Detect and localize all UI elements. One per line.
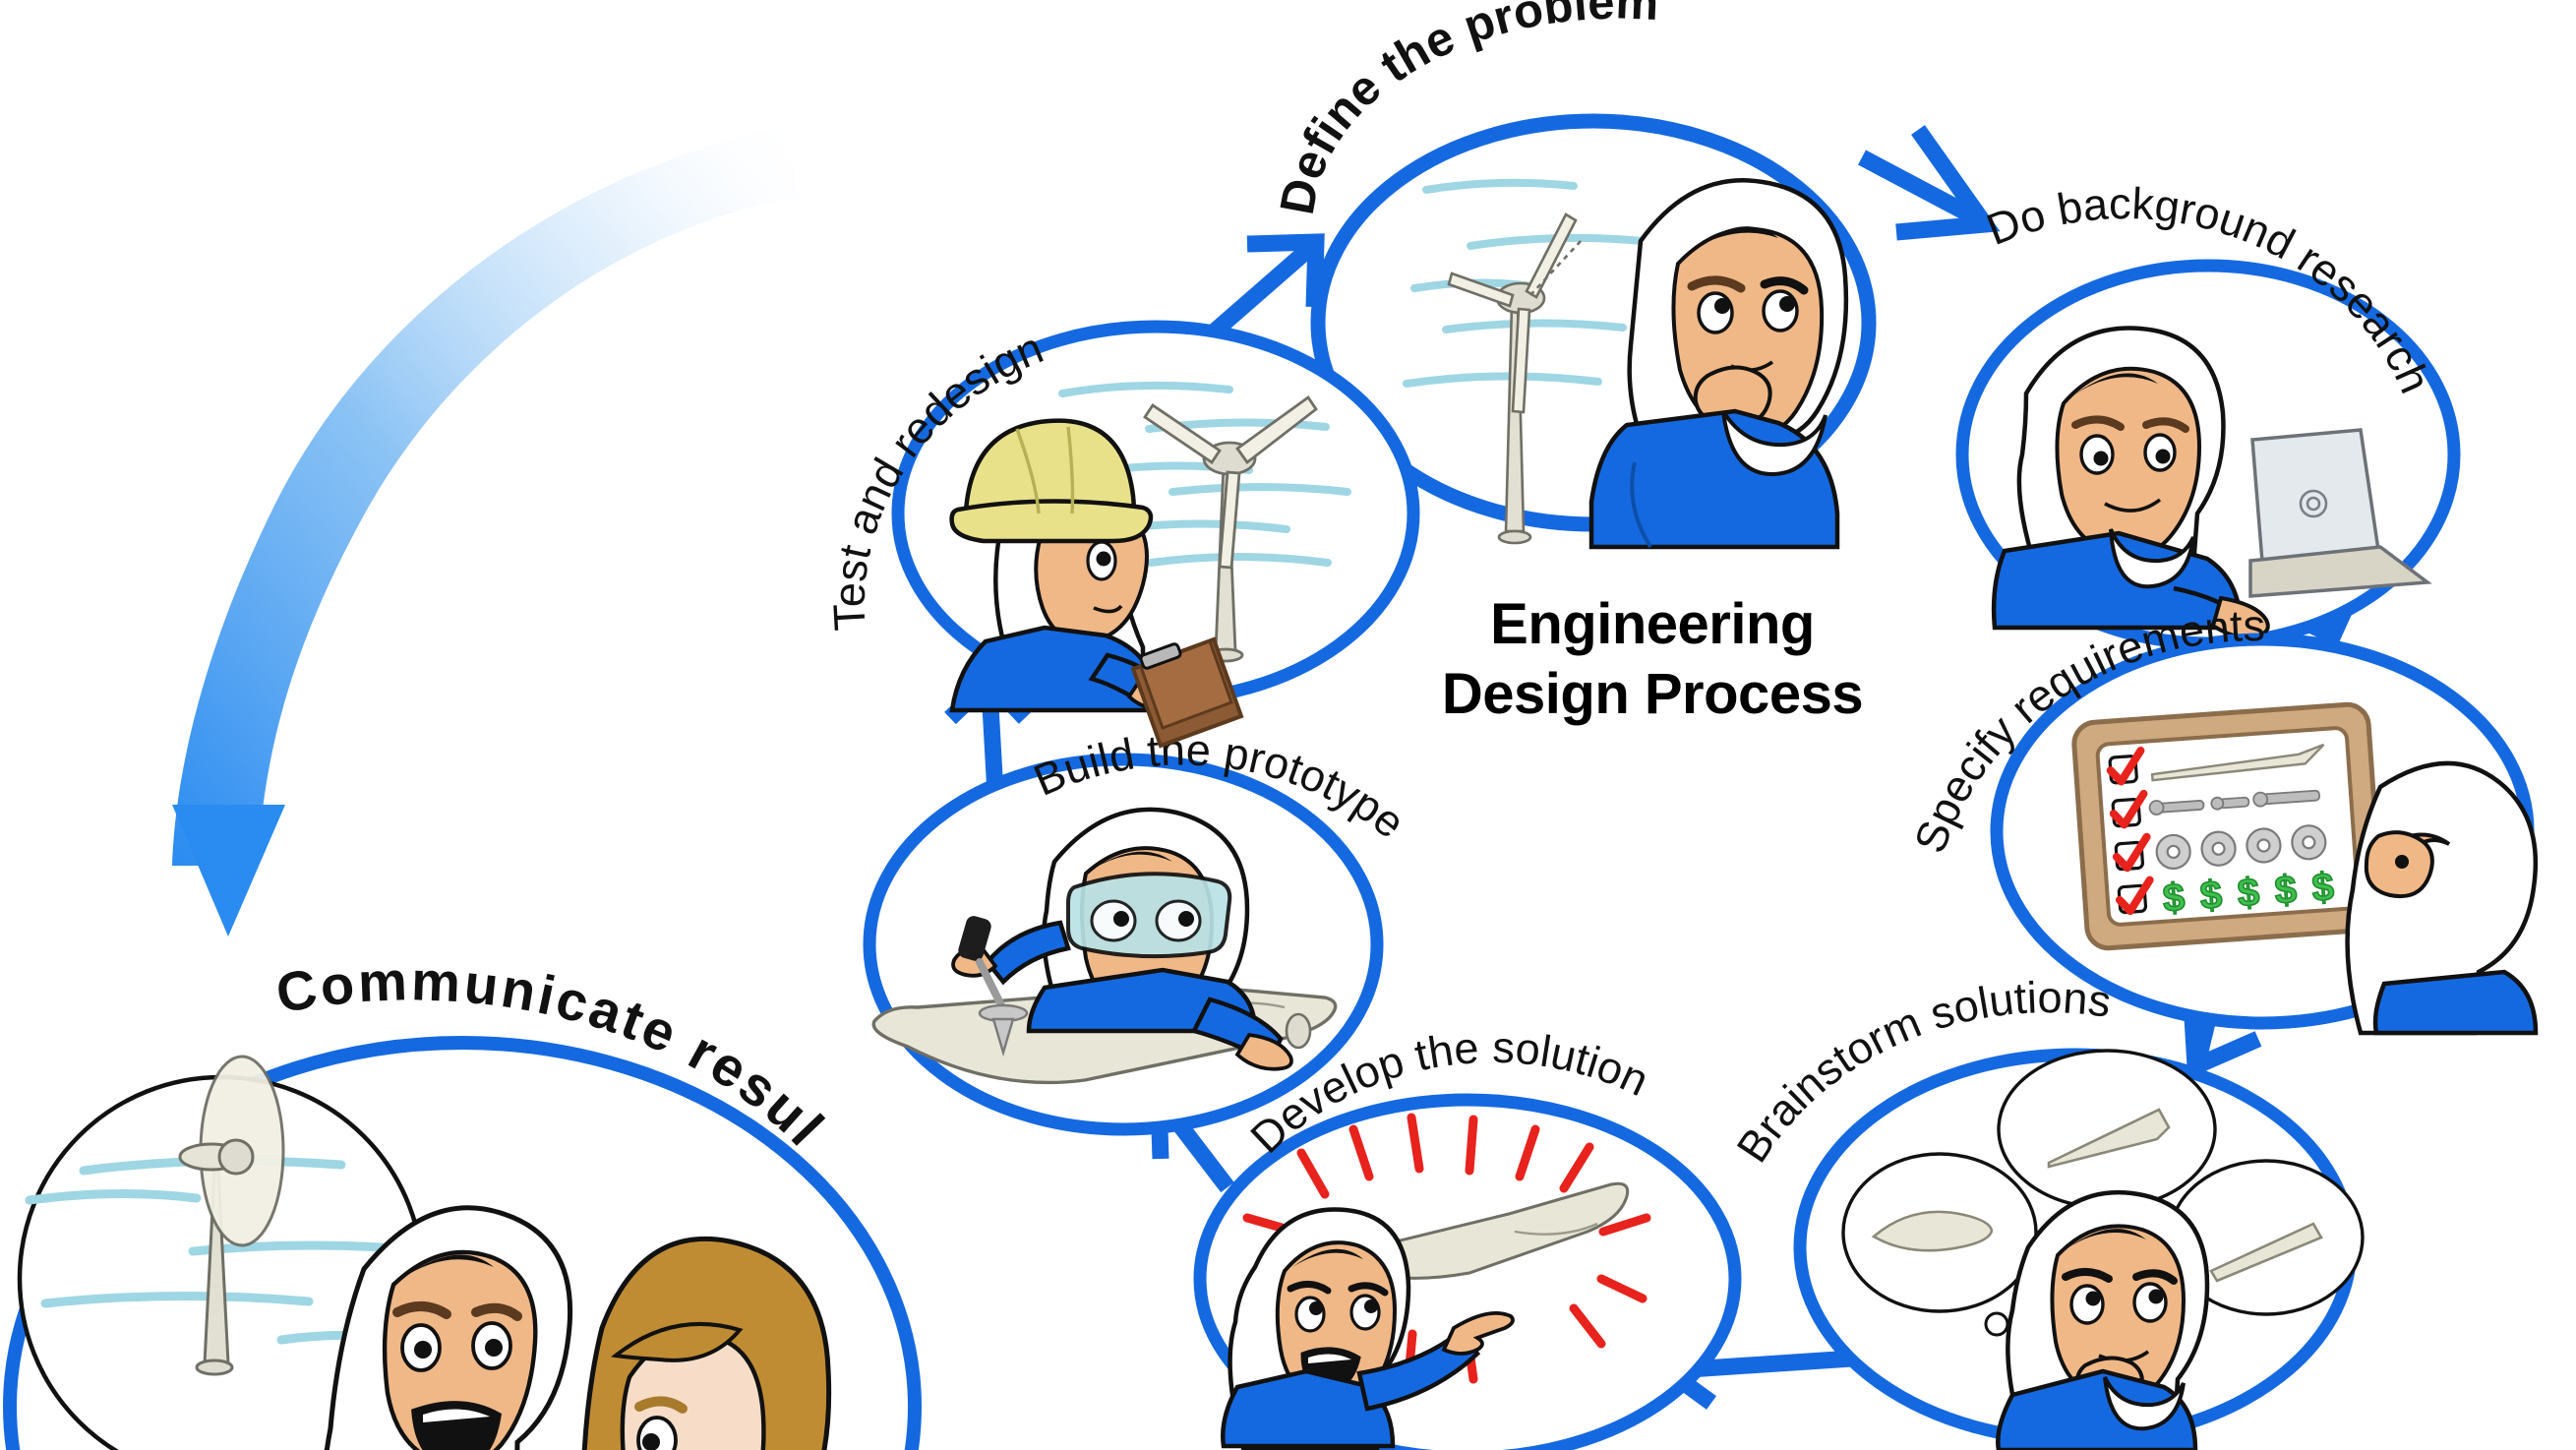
girl-holding-board	[2348, 763, 2536, 1033]
svg-text:$: $	[2198, 874, 2223, 918]
requirements-board: $ $ $ $ $	[2072, 703, 2382, 949]
svg-text:$: $	[2161, 876, 2186, 920]
step-specify-requirements[interactable]: $ $ $ $ $ Specify requirements	[1904, 600, 2536, 1033]
arrow-define-to-research	[1862, 130, 1985, 232]
step-communicate-results[interactable]: Communicate results	[0, 0, 915, 1450]
svg-text:$: $	[2310, 866, 2335, 910]
safety-goggles-icon	[1068, 874, 1229, 956]
svg-text:$: $	[2273, 868, 2298, 912]
step-brainstorm-solutions[interactable]: Brainstorm solutions	[1727, 972, 2363, 1450]
step-do-background-research[interactable]: Do background research	[1962, 178, 2454, 643]
gradient-arrow-head	[172, 805, 285, 936]
step-test-and-redesign[interactable]: Test and redesign	[823, 323, 1413, 746]
engineering-design-process-diagram: Define the problem	[0, 0, 2576, 1450]
cycle-to-communicate-gradient-arrow	[172, 126, 799, 936]
page-title: Engineering Design Process	[1407, 590, 1898, 730]
svg-text:$: $	[2236, 871, 2260, 915]
diagram-canvas: Define the problem	[0, 0, 2576, 1450]
